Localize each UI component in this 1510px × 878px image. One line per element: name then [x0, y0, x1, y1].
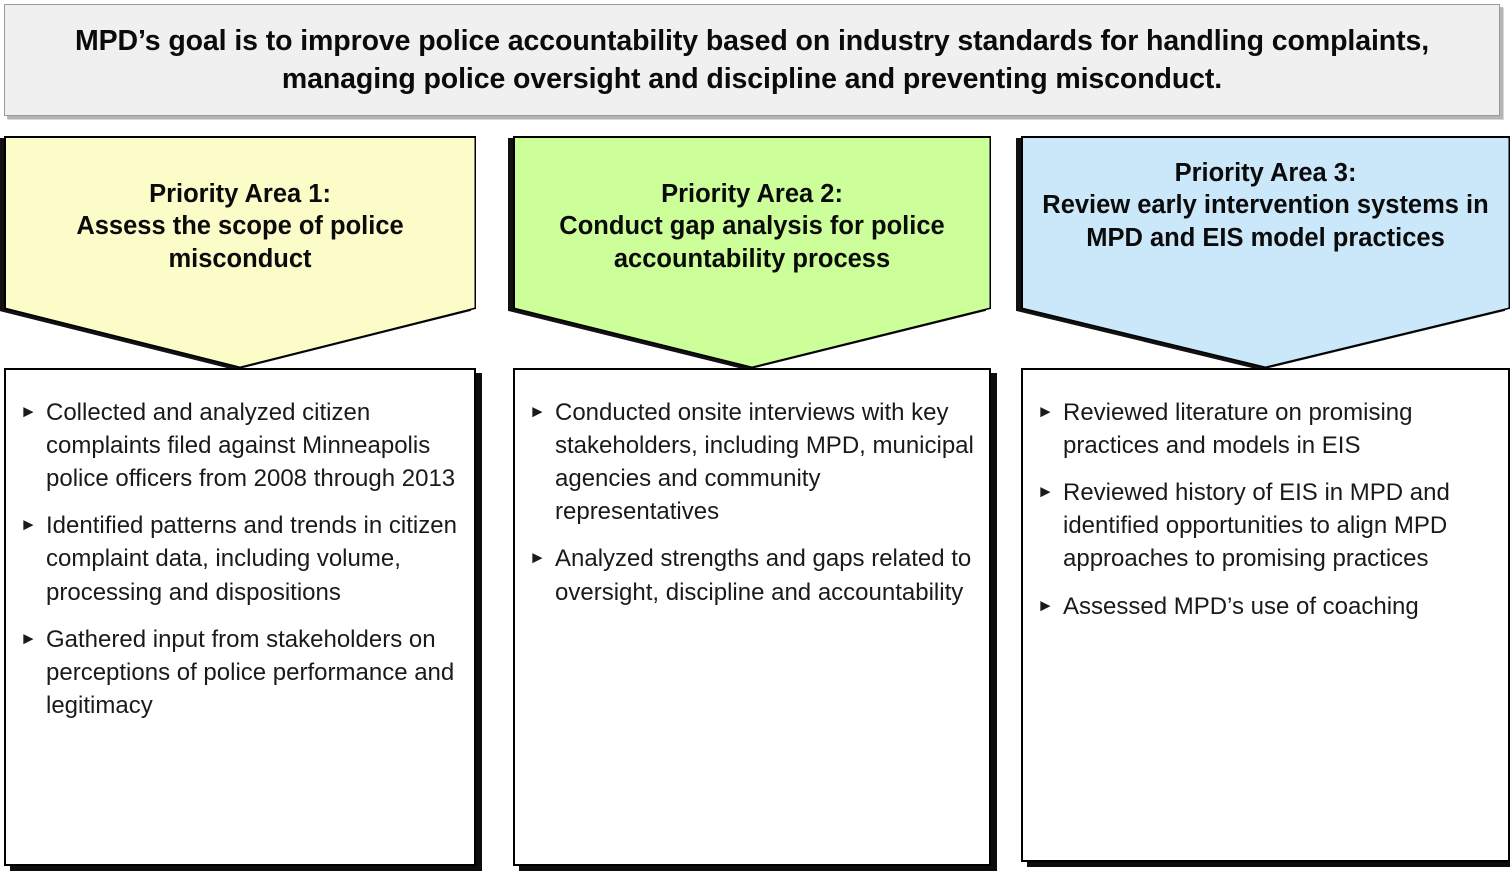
priority-area-3-bullet-list: ► Reviewed literature on promising pract…: [1023, 370, 1508, 623]
list-item: ► Collected and analyzed citizen complai…: [20, 396, 460, 495]
list-item: ► Conducted onsite interviews with key s…: [529, 396, 975, 528]
triangle-bullet-icon: ►: [20, 509, 46, 537]
list-item-text: Collected and analyzed citizen complaint…: [46, 396, 460, 495]
triangle-bullet-icon: ►: [20, 623, 46, 651]
triangle-bullet-icon: ►: [1037, 590, 1063, 618]
priority-area-3-panel: ► Reviewed literature on promising pract…: [1021, 368, 1510, 862]
triangle-bullet-icon: ►: [1037, 476, 1063, 504]
list-item: ► Assessed MPD’s use of coaching: [1037, 590, 1494, 623]
list-item: ► Analyzed strengths and gaps related to…: [529, 542, 975, 608]
priority-area-2-bullet-list: ► Conducted onsite interviews with key s…: [515, 370, 989, 609]
list-item-text: Assessed MPD’s use of coaching: [1063, 590, 1494, 623]
list-item-text: Reviewed literature on promising practic…: [1063, 396, 1494, 462]
priority-area-1-panel: ► Collected and analyzed citizen complai…: [4, 368, 476, 866]
list-item: ► Identified patterns and trends in citi…: [20, 509, 460, 608]
list-item-text: Conducted onsite interviews with key sta…: [555, 396, 975, 528]
list-item: ► Reviewed literature on promising pract…: [1037, 396, 1494, 462]
goal-statement-text: MPD’s goal is to improve police accounta…: [5, 22, 1499, 99]
list-item-text: Gathered input from stakeholders on perc…: [46, 623, 460, 722]
priority-area-2-panel: ► Conducted onsite interviews with key s…: [513, 368, 991, 866]
triangle-bullet-icon: ►: [20, 396, 46, 424]
triangle-bullet-icon: ►: [529, 542, 555, 570]
priority-area-1-title: Priority Area 1:Assess the scope of poli…: [4, 178, 476, 275]
priority-area-1-chevron: Priority Area 1:Assess the scope of poli…: [4, 136, 476, 368]
list-item-text: Reviewed history of EIS in MPD and ident…: [1063, 476, 1494, 575]
priority-area-column-1: Priority Area 1:Assess the scope of poli…: [4, 136, 476, 368]
list-item: ► Reviewed history of EIS in MPD and ide…: [1037, 476, 1494, 575]
triangle-bullet-icon: ►: [1037, 396, 1063, 424]
priority-area-column-2: Priority Area 2:Conduct gap analysis for…: [513, 136, 991, 368]
list-item-text: Analyzed strengths and gaps related to o…: [555, 542, 975, 608]
list-item-text: Identified patterns and trends in citize…: [46, 509, 460, 608]
priority-area-2-chevron: Priority Area 2:Conduct gap analysis for…: [513, 136, 991, 368]
priority-area-3-chevron: Priority Area 3:Review early interventio…: [1021, 136, 1510, 368]
triangle-bullet-icon: ►: [529, 396, 555, 424]
priority-area-column-3: Priority Area 3:Review early interventio…: [1021, 136, 1510, 368]
priority-area-1-bullet-list: ► Collected and analyzed citizen complai…: [6, 370, 474, 722]
goal-statement-banner: MPD’s goal is to improve police accounta…: [4, 4, 1500, 116]
list-item: ► Gathered input from stakeholders on pe…: [20, 623, 460, 722]
priority-area-3-title: Priority Area 3:Review early interventio…: [1021, 157, 1510, 254]
priority-area-2-title: Priority Area 2:Conduct gap analysis for…: [513, 178, 991, 275]
